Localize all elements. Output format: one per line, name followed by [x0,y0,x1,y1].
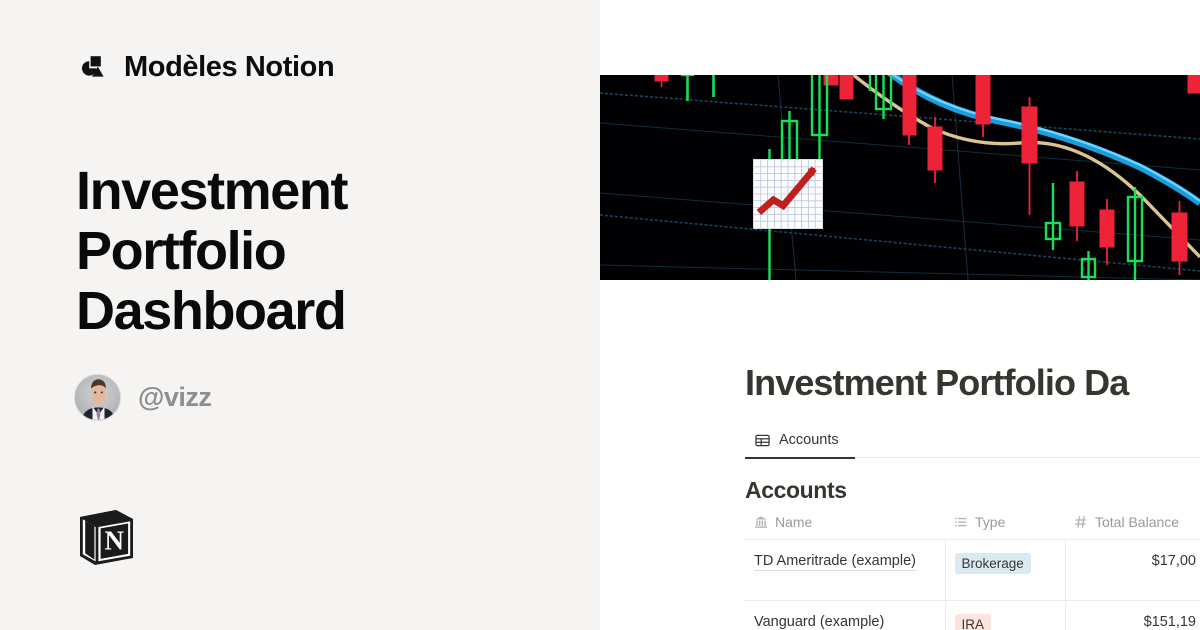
brand: Modèles Notion [76,50,334,84]
author-handle: @vizz [138,382,211,413]
table-row[interactable]: TD Ameritrade (example) Brokerage $17,00 [745,540,1200,601]
table-grid-icon [755,433,770,448]
notion-page-title: Investment Portfolio Da [745,362,1128,404]
share-preview-card: Modèles Notion Investment Portfolio Dash… [0,0,1200,630]
author: @vizz [74,374,211,421]
left-info-panel: Modèles Notion Investment Portfolio Dash… [0,0,600,630]
tab-label: Accounts [779,432,839,448]
page-title: Investment Portfolio Dashboard [76,162,546,342]
column-header-name-label: Name [775,514,812,530]
candlestick-chart-cover-image [600,75,1200,280]
avatar [74,374,121,421]
status-badge: IRA [955,614,992,630]
tab-bar: Accounts [745,432,1200,457]
cell-type[interactable]: Brokerage [945,540,1065,601]
notion-cube-logo-icon: N [76,503,136,569]
cell-name[interactable]: TD Ameritrade (example) [745,540,945,601]
table-header-row: Name [745,514,1200,540]
notion-templates-logo-icon [76,50,110,84]
svg-text:N: N [105,526,125,556]
accounts-table: Name [745,514,1200,630]
notion-page-preview[interactable]: Investment Portfolio Da Accounts [600,0,1200,630]
status-badge: Brokerage [955,553,1031,574]
number-hash-icon [1074,515,1088,529]
chart-increasing-emoji [753,159,825,231]
table-row[interactable]: Vanguard (example) IRA $151,19 [745,601,1200,630]
cell-name[interactable]: Vanguard (example) [745,601,945,630]
database-view: Accounts [745,477,1200,630]
active-tab-indicator [745,457,855,459]
brand-name: Modèles Notion [124,53,334,82]
select-list-icon [954,515,968,529]
column-header-type-label: Type [975,514,1005,530]
column-header-type[interactable]: Type [945,514,1065,540]
column-header-total-balance[interactable]: Total Balance [1065,514,1200,540]
cell-type[interactable]: IRA [945,601,1065,630]
cell-total-balance[interactable]: $151,19 [1065,601,1200,630]
cell-total-balance[interactable]: $17,00 [1065,540,1200,601]
column-header-name[interactable]: Name [745,514,945,540]
column-header-total-balance-label: Total Balance [1095,514,1179,530]
bank-building-icon [754,515,768,529]
tab-accounts[interactable]: Accounts [745,432,851,457]
database-title: Accounts [745,477,1200,504]
